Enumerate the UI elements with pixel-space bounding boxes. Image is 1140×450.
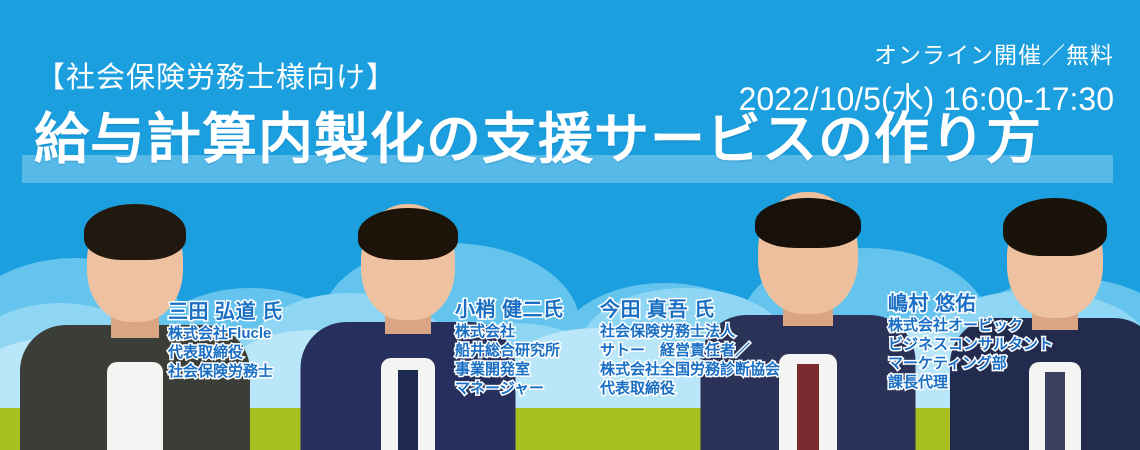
speaker-caption-3: 今田 真吾 氏 社会保険労務士法人 サトー 経営責任者／ 株式会社全国労務診断協… [600, 298, 780, 398]
speaker-affiliation-line: 船井総合研究所 [455, 341, 564, 360]
speaker-caption-4: 嶋村 悠佑 株式会社オービック ビジネスコンサルタント マーケティング部 課長代… [888, 292, 1053, 392]
speaker-affiliation-line: 株式会社Flucle [168, 324, 283, 343]
speaker-affiliation-line: 代表取締役 [168, 343, 283, 362]
speaker-affiliation-line: 課長代理 [888, 373, 1053, 392]
event-datetime: 2022/10/5(水) 16:00-17:30 [739, 74, 1114, 120]
speaker-name: 嶋村 悠佑 [888, 292, 1053, 316]
speaker-affiliation-line: 事業開発室 [455, 360, 564, 379]
speaker-affiliation-line: 代表取締役 [600, 379, 780, 398]
speaker-affiliation-line: サトー 経営責任者／ [600, 341, 780, 360]
speaker-hair [84, 204, 186, 260]
speaker-hair [358, 208, 458, 260]
speaker-caption-2: 小梢 健二氏 株式会社 船井総合研究所 事業開発室 マネージャー [455, 298, 564, 398]
speaker-name: 三田 弘道 氏 [168, 300, 283, 324]
speaker-affiliation-line: マネージャー [455, 379, 564, 398]
speaker-affiliation-line: 株式会社オービック [888, 316, 1053, 335]
event-meta: オンライン開催／無料 2022/10/5(水) 16:00-17:30 [739, 36, 1114, 120]
speaker-caption-1: 三田 弘道 氏 株式会社Flucle 代表取締役 社会保険労務士 [168, 300, 283, 381]
speaker-affiliation-line: 社会保険労務士 [168, 362, 283, 381]
webinar-banner: 【社会保険労務士様向け】 給与計算内製化の支援サービスの作り方 オンライン開催／… [0, 0, 1140, 450]
speaker-hair [755, 198, 861, 248]
speaker-tie [797, 364, 819, 450]
speaker-name: 小梢 健二氏 [455, 298, 564, 322]
kicker-text: 【社会保険労務士様向け】 [36, 54, 396, 96]
speaker-affiliation-line: 社会保険労務士法人 [600, 322, 780, 341]
speaker-tie [398, 370, 418, 450]
online-label: オンライン開催／無料 [739, 36, 1114, 70]
speaker-name: 今田 真吾 氏 [600, 298, 780, 322]
speaker-affiliation-line: 株式会社全国労務診断協会 [600, 360, 780, 379]
speaker-shirt [107, 362, 163, 450]
speaker-hair [1003, 198, 1107, 256]
speaker-affiliation-line: 株式会社 [455, 322, 564, 341]
speaker-affiliation-line: マーケティング部 [888, 354, 1053, 373]
speaker-affiliation-line: ビジネスコンサルタント [888, 335, 1053, 354]
